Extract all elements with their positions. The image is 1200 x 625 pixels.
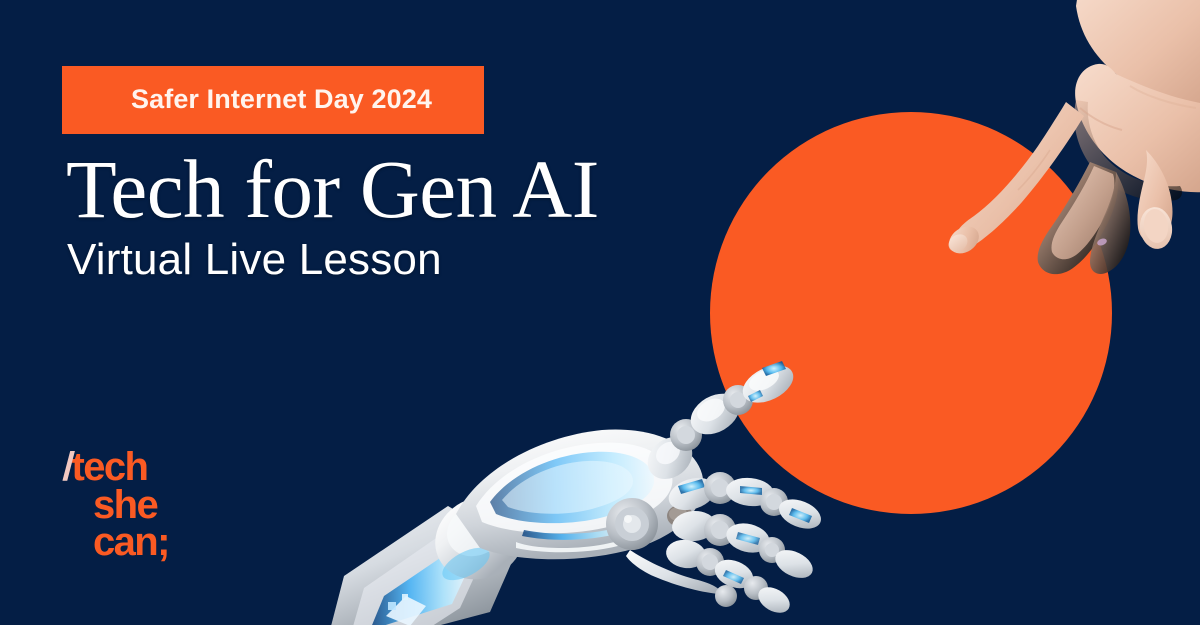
page-subtitle: Virtual Live Lesson (62, 237, 599, 283)
poster-text-block: Safer Internet Day 2024 Tech for Gen AI … (62, 66, 599, 283)
logo-word-can: can (93, 520, 157, 564)
logo-line-3: can; (63, 524, 169, 562)
logo-semicolon: ; (157, 520, 169, 564)
event-badge: Safer Internet Day 2024 (62, 66, 484, 134)
logo-line-2: she (63, 487, 169, 525)
logo-slash-icon: / (62, 449, 74, 487)
logo-line-1: /tech (63, 449, 169, 487)
tech-she-can-logo[interactable]: /tech she can; (63, 449, 169, 562)
page-title: Tech for Gen AI (62, 148, 599, 231)
human-hand-illustration (930, 0, 1200, 295)
robot-hand-illustration (330, 330, 850, 625)
poster-canvas: Safer Internet Day 2024 Tech for Gen AI … (0, 0, 1200, 625)
